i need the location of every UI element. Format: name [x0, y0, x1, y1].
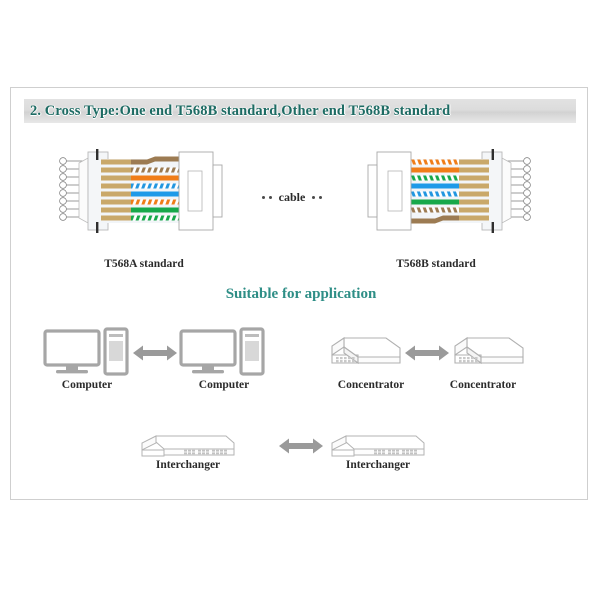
computer-label-right: Computer	[174, 379, 274, 391]
double-arrow-icon-row1	[133, 344, 177, 362]
interchanger-label-left: Interchanger	[136, 459, 240, 471]
double-arrow-icon-row3	[279, 437, 323, 455]
right-connector-svg	[345, 145, 535, 255]
cable-label: cable	[279, 190, 306, 205]
page-title: 2. Cross Type:One end T568B standard,Oth…	[24, 103, 450, 120]
right-connector-diagram	[345, 145, 535, 255]
cable-dots-left	[262, 196, 272, 199]
left-connector-label: T568A standard	[44, 258, 244, 270]
concentrator-label-right: Concentrator	[428, 379, 538, 391]
computer-icon-left	[44, 328, 130, 376]
cable-dots-right	[312, 196, 322, 199]
computer-label-left: Computer	[37, 379, 137, 391]
interchanger-label-right: Interchanger	[326, 459, 430, 471]
left-connector-diagram	[55, 145, 245, 255]
cable-indicator: cable	[236, 188, 348, 206]
right-connector-label: T568B standard	[336, 258, 536, 270]
concentrator-icon-left	[330, 330, 402, 374]
left-connector-svg	[55, 145, 245, 255]
concentrator-label-left: Concentrator	[316, 379, 426, 391]
double-arrow-icon-row2	[405, 344, 449, 362]
section-title-banner: 2. Cross Type:One end T568B standard,Oth…	[24, 99, 576, 123]
computer-icon-right	[180, 328, 266, 376]
concentrator-icon-right	[453, 330, 525, 374]
application-heading: Suitable for application	[185, 286, 417, 303]
